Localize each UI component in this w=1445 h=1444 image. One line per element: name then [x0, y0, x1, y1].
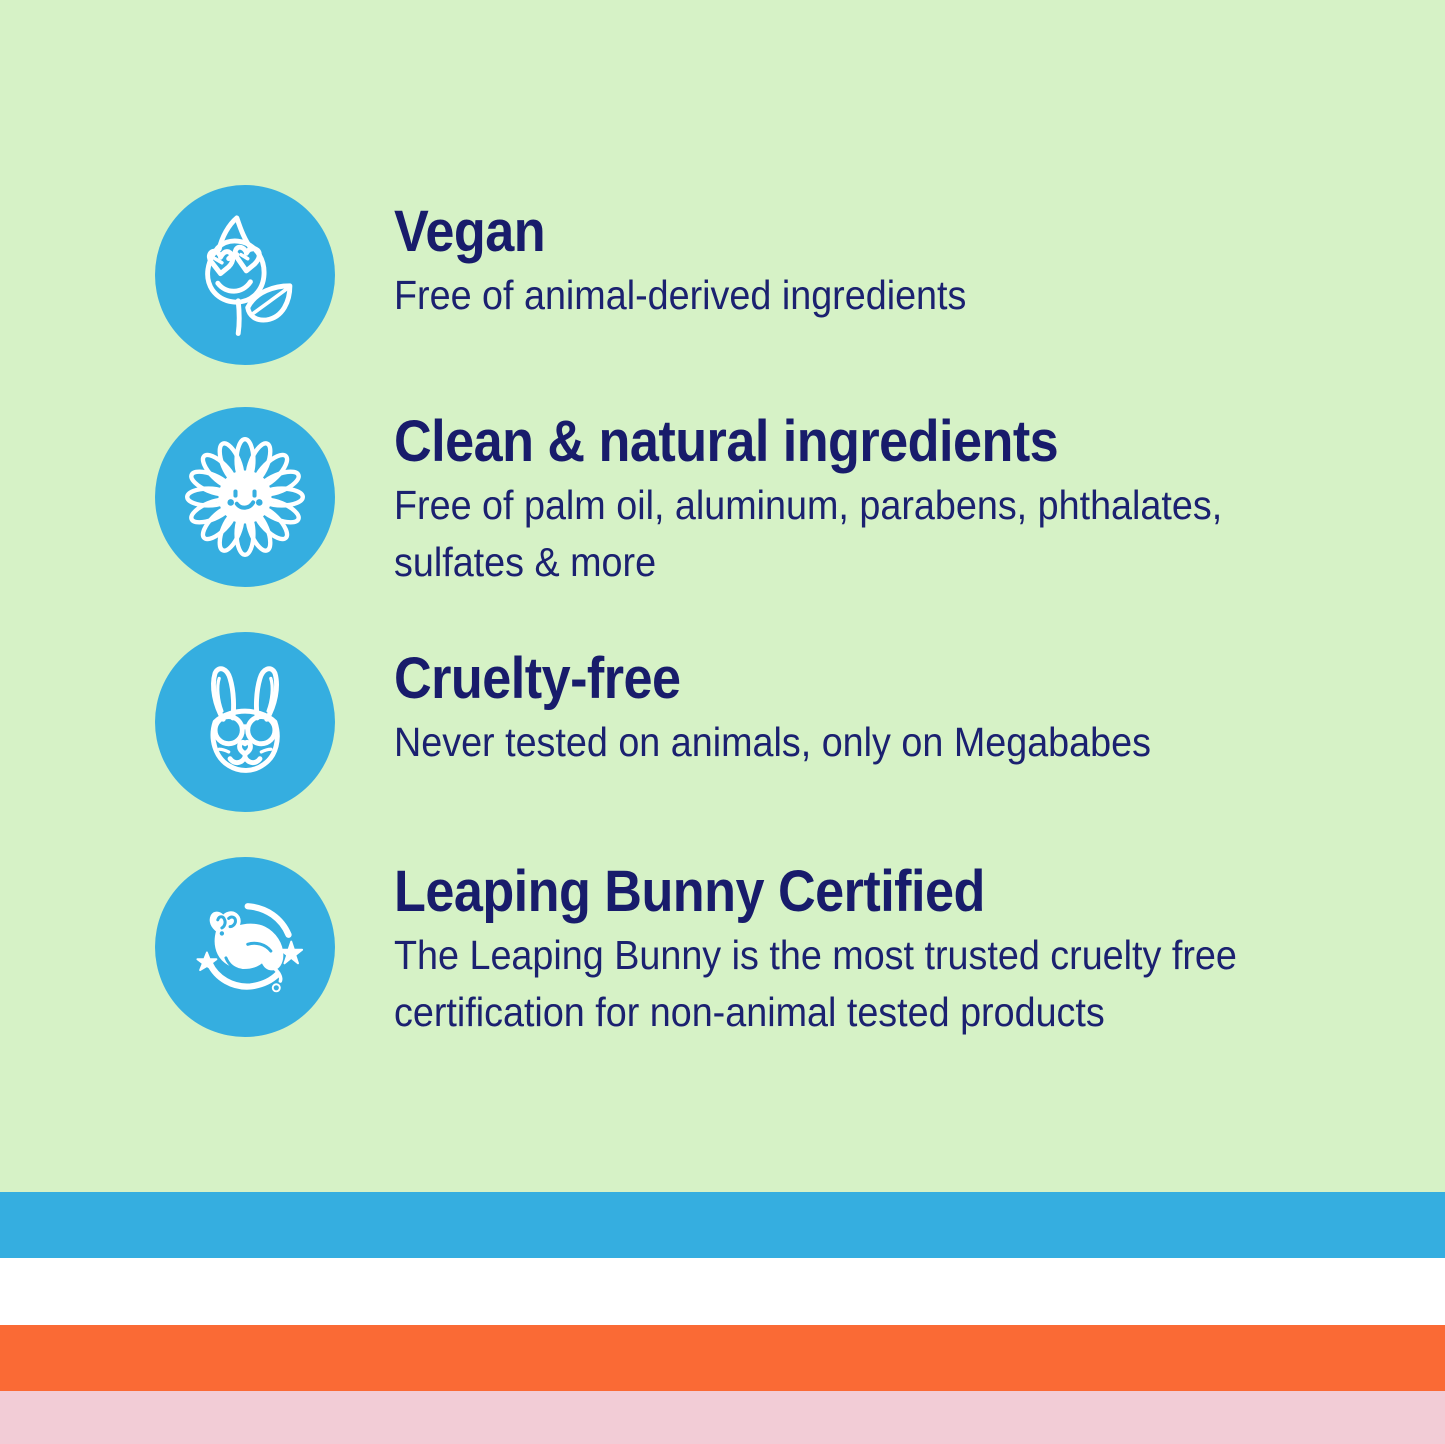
feature-item-vegan: Vegan Free of animal-derived ingredients	[155, 185, 1415, 365]
feature-text-block: Vegan Free of animal-derived ingredients	[335, 185, 1415, 324]
feature-title: Leaping Bunny Certified	[394, 863, 1313, 921]
color-stripe-white	[0, 1258, 1445, 1325]
berry-with-heart-sunglasses-icon	[155, 185, 335, 365]
feature-item-leaping-bunny-certified: Leaping Bunny Certified The Leaping Bunn…	[155, 857, 1415, 1042]
leaping-bunny-logo-icon	[155, 857, 335, 1037]
infographic-canvas: Vegan Free of animal-derived ingredients	[0, 0, 1445, 1444]
feature-item-clean-natural-ingredients: Clean & natural ingredients Free of palm…	[155, 407, 1415, 592]
feature-description: Free of palm oil, aluminum, parabens, ph…	[394, 477, 1333, 592]
feature-description: The Leaping Bunny is the most trusted cr…	[394, 927, 1333, 1042]
feature-title: Clean & natural ingredients	[394, 413, 1313, 471]
smiling-daisy-flower-icon	[155, 407, 335, 587]
color-stripe-orange	[0, 1325, 1445, 1391]
feature-item-cruelty-free: Cruelty-free Never tested on animals, on…	[155, 632, 1415, 812]
color-stripe-blue	[0, 1192, 1445, 1258]
feature-list: Vegan Free of animal-derived ingredients	[0, 0, 1445, 1192]
feature-description: Free of animal-derived ingredients	[394, 267, 1333, 324]
feature-text-block: Clean & natural ingredients Free of palm…	[335, 407, 1415, 592]
feature-title: Vegan	[394, 203, 1313, 261]
feature-title: Cruelty-free	[394, 650, 1313, 708]
feature-text-block: Cruelty-free Never tested on animals, on…	[335, 632, 1415, 771]
bunny-face-with-sunglasses-icon	[155, 632, 335, 812]
color-stripe-pink	[0, 1391, 1445, 1444]
feature-text-block: Leaping Bunny Certified The Leaping Bunn…	[335, 857, 1415, 1042]
feature-description: Never tested on animals, only on Megabab…	[394, 714, 1333, 771]
